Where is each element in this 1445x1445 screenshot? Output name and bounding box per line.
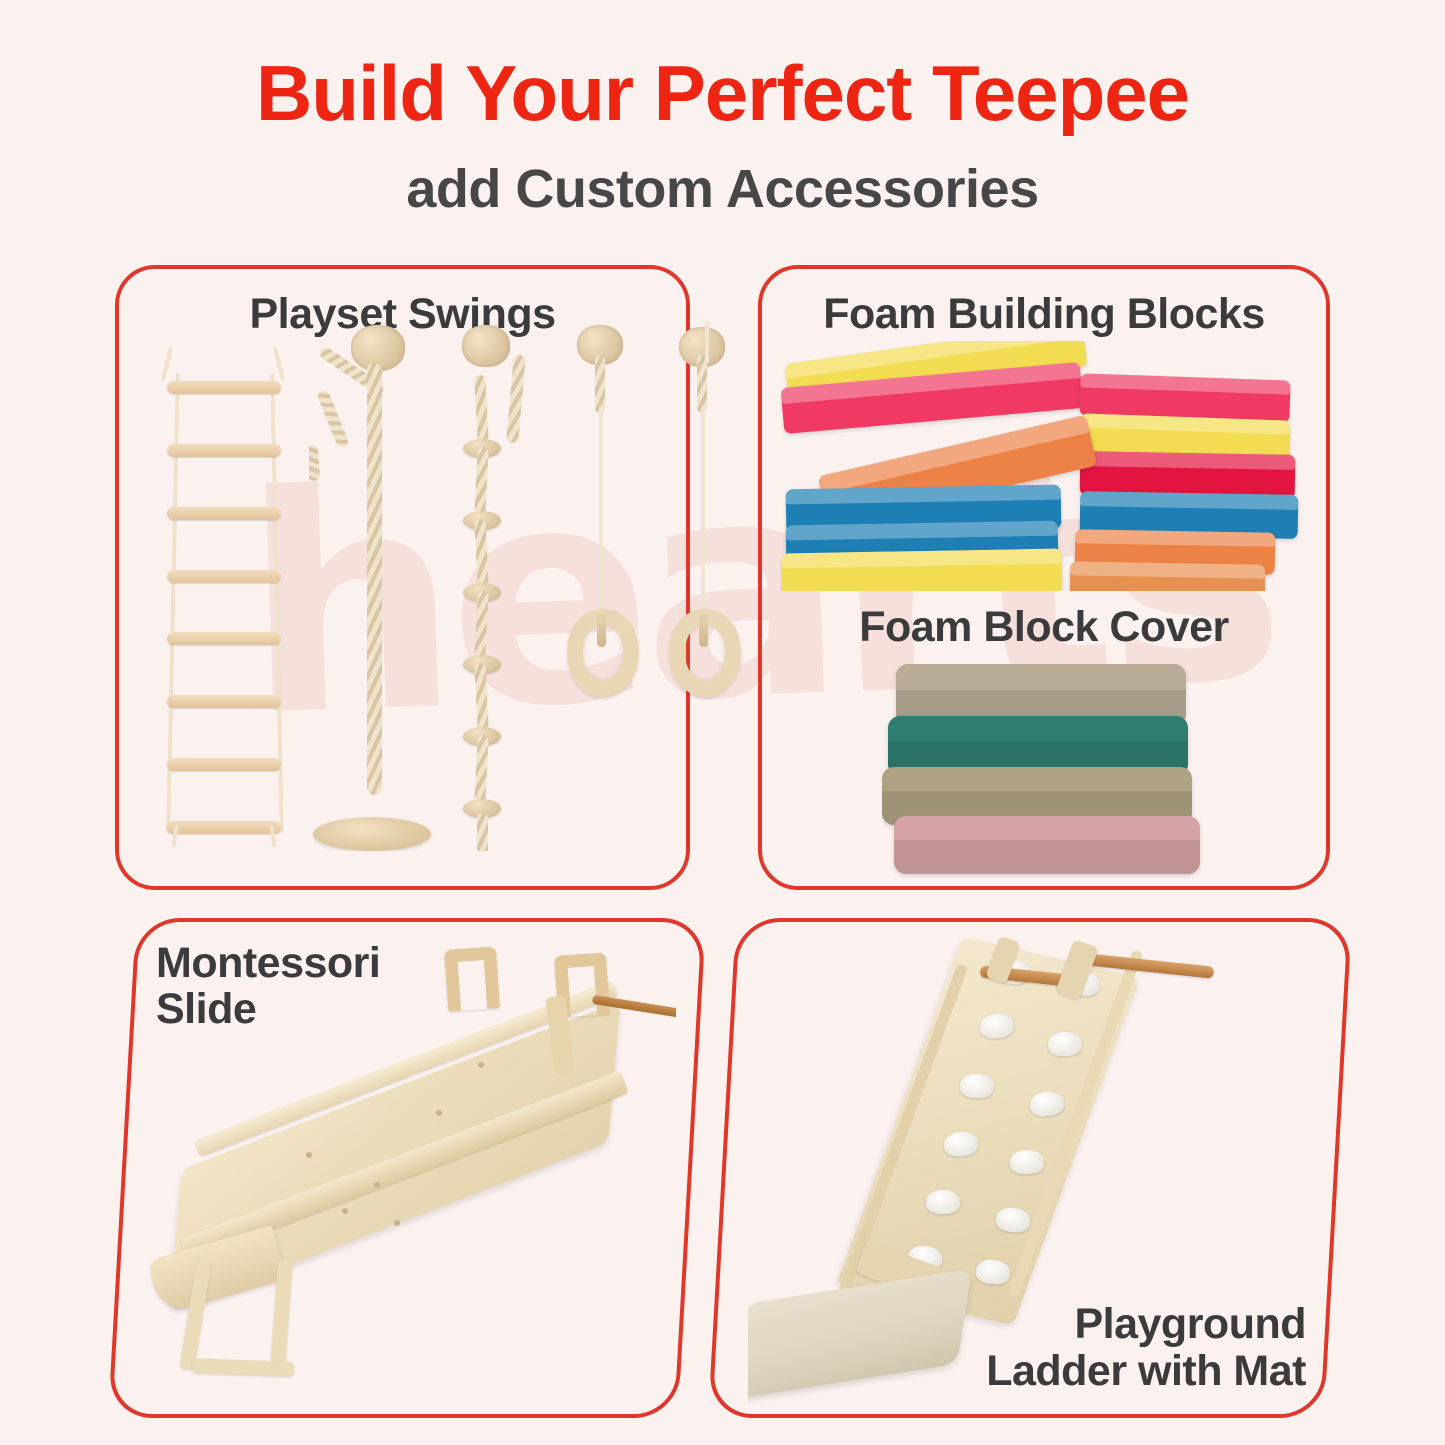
block-crimson-right-top-face — [1080, 451, 1295, 470]
rings-suspension-cord — [599, 407, 603, 617]
slide-screw — [394, 1220, 400, 1226]
card-foam-building-blocks[interactable]: Foam Building Blocks Foam Block Cover — [758, 265, 1330, 890]
knot-rope-segment — [474, 735, 489, 803]
knot-rope-segment — [474, 591, 489, 659]
ladder-rung — [167, 381, 281, 394]
ladder-rung — [167, 632, 281, 645]
climbing-hold — [926, 1190, 960, 1215]
block-yellow-bottom-left — [782, 549, 1063, 591]
foam-blocks-illustration — [780, 341, 1316, 591]
slide-leg-crossbar — [192, 1358, 294, 1377]
slide-handle-left — [444, 946, 500, 1011]
ladder-rung — [167, 758, 281, 771]
rings-suspension-cord — [701, 407, 705, 617]
disc-swing-main-rope — [367, 363, 382, 795]
climbing-hold — [1010, 1150, 1044, 1174]
disc-swing-wooden-seat — [313, 817, 431, 851]
slide-screw — [306, 1152, 312, 1158]
block-pink-upper-right-top-face — [1080, 373, 1290, 395]
cushion-pink — [894, 816, 1200, 874]
ladder-rung — [167, 507, 281, 520]
disc-swing-loose-end-b — [316, 389, 350, 449]
rings-upper-rope — [697, 355, 707, 413]
infographic-root: hearts Build Your Perfect Teepee add Cus… — [0, 0, 1445, 1445]
cushion-pink-front-face — [894, 840, 1200, 874]
knot-rope-loose-end — [506, 355, 526, 444]
rings-upper-rope — [595, 355, 605, 413]
ladder-hook-right — [273, 347, 285, 381]
page-subtitle: add Custom Accessories — [0, 158, 1445, 220]
climbing-hold — [1048, 1032, 1082, 1057]
disc-swing-loose-end-c — [309, 445, 320, 482]
block-orange-bottom — [1070, 561, 1266, 591]
knot-rope-top-knot — [462, 325, 510, 367]
block-orange-bottom-top-face — [1070, 561, 1265, 579]
foam-mat — [748, 1268, 972, 1400]
climbing-hold — [960, 1073, 995, 1098]
slide-screw — [436, 1110, 442, 1116]
slide-screw — [478, 1062, 484, 1068]
ladder-rung — [167, 821, 281, 834]
card-playset-swings[interactable]: Playset Swings — [115, 265, 690, 890]
card-title-foam-block-cover: Foam Block Cover — [762, 604, 1326, 650]
card-montessori-slide[interactable]: Montessori Slide — [108, 918, 706, 1418]
rope-ladder-illustration — [149, 347, 299, 847]
knot-rope-segment — [474, 375, 489, 443]
ladder-rung — [167, 570, 281, 583]
knot-rope-tail — [477, 813, 488, 851]
ring-connector-peg — [597, 613, 606, 647]
knot-rope-segment — [474, 447, 489, 515]
block-blue-right-top-face — [1080, 491, 1298, 510]
card-playground-ladder[interactable]: Playground Ladder with Mat — [708, 918, 1352, 1418]
ladder-rung — [167, 695, 281, 708]
montessori-slide-illustration — [146, 942, 676, 1397]
playground-ladder-illustration — [748, 936, 1328, 1406]
foam-covers-illustration — [882, 664, 1212, 879]
ladder-rung — [167, 444, 281, 457]
ladder-hook-left — [161, 347, 173, 381]
rings-anchor-cord — [705, 321, 709, 363]
ring-connector-peg — [699, 613, 708, 647]
page-title: Build Your Perfect Teepee — [0, 48, 1445, 139]
card-title-foam-building-blocks: Foam Building Blocks — [762, 291, 1326, 337]
knotted-rope-illustration — [454, 321, 544, 851]
gymnastic-rings-illustration — [559, 321, 749, 851]
disc-swing-illustration — [309, 321, 444, 851]
slide-screw — [342, 1208, 348, 1214]
slide-screw — [374, 1182, 380, 1188]
block-orange-right-top-face — [1075, 529, 1275, 547]
